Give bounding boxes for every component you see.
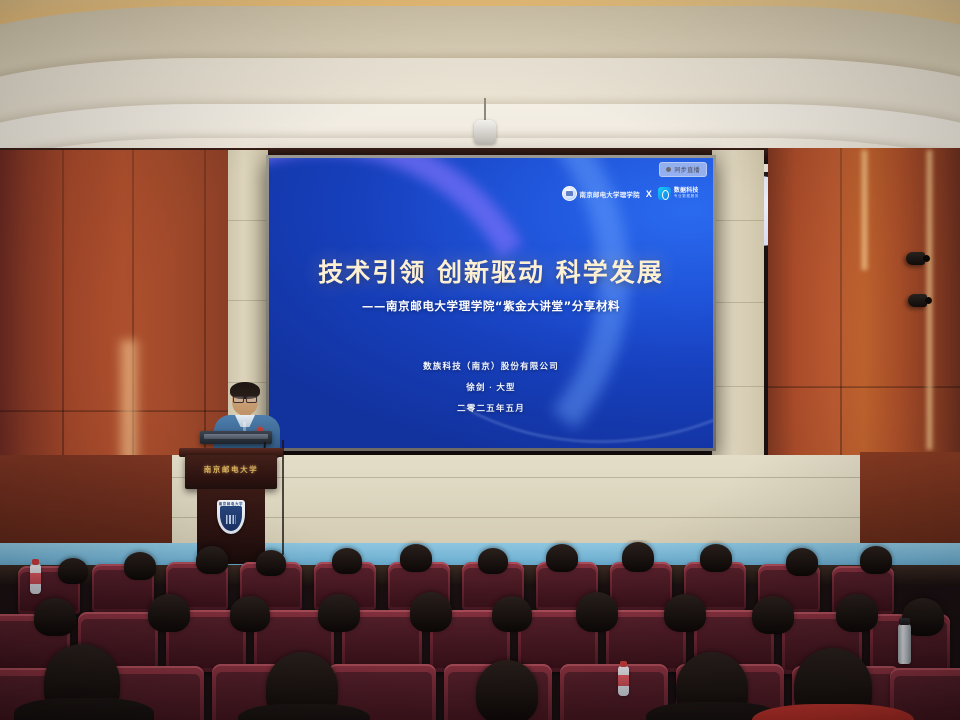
crest-shield: [220, 506, 242, 531]
audience-head: [476, 660, 538, 720]
audience-head: [478, 548, 508, 574]
watermark-dot-icon: [666, 167, 671, 172]
university-logo-label: 南京邮电大学理学院: [580, 189, 640, 199]
projection-screen: 同步直播 南京邮电大学理学院 X 数据科技 专业数据服务: [266, 155, 716, 451]
slide-subtitle: ——南京邮电大学理学院“紫金大讲堂”分享材料: [269, 298, 713, 314]
audience-head: [196, 546, 228, 574]
bottle-label: [30, 573, 41, 584]
presenter: [212, 384, 282, 458]
ceiling-speaker-icon: [474, 120, 496, 144]
slide-logo-row: 南京邮电大学理学院 X 数据科技 专业数据服务: [562, 186, 700, 201]
audience-head: [664, 594, 706, 632]
watermark-label: 同步直播: [674, 165, 700, 174]
crest-emblem-icon: [226, 515, 236, 524]
slide-title: 技术引领 创新驱动 科学发展: [269, 253, 713, 289]
audience-head: [492, 596, 532, 632]
live-stream-watermark: 同步直播: [659, 162, 707, 177]
audience-head: [124, 552, 156, 580]
bottle-cap-icon: [620, 661, 627, 667]
wall-spotlight-icon: [908, 294, 927, 307]
thermos-cap-icon: [899, 618, 910, 625]
audience-head: [786, 548, 818, 576]
audience-head: [752, 596, 794, 634]
podium-face: 南京邮电大学: [185, 455, 277, 489]
company-logo: 数据科技 专业数据服务: [658, 187, 699, 200]
slide-meta-date: 二零二五年五月: [269, 402, 713, 414]
audience-head: [576, 592, 618, 632]
audience-head: [860, 546, 892, 574]
audience-head: [622, 542, 654, 572]
university-logo: 南京邮电大学理学院: [562, 186, 640, 201]
bottle-cap-icon: [32, 559, 39, 565]
water-bottle: [618, 666, 629, 696]
audience-head: [256, 550, 286, 576]
company-mark-icon: [658, 187, 671, 200]
audience-head: [230, 596, 270, 632]
audience-head: [700, 544, 732, 572]
audience-head: [318, 594, 360, 632]
floor-cable: [282, 440, 287, 555]
audience-head: [836, 594, 878, 632]
company-logo-text: 数据科技 专业数据服务: [674, 188, 699, 199]
laptop: [200, 431, 272, 444]
right-wall-light-strip-inner: [860, 150, 869, 270]
logo-separator: X: [646, 189, 652, 199]
audience-shoulders: [238, 704, 370, 720]
slide-meta-presenter: 徐剑 · 大型: [269, 381, 713, 393]
company-logo-tagline: 专业数据服务: [674, 195, 699, 199]
slide-meta-company: 数族科技（南京）股份有限公司: [269, 360, 713, 372]
university-seal-icon: [562, 186, 577, 201]
audience-head: [410, 592, 452, 632]
left-stage-cabinet: [0, 455, 172, 550]
podium-nameplate: 南京邮电大学: [185, 464, 277, 475]
bottle-label: [618, 675, 629, 686]
audience-head: [58, 558, 88, 584]
slide-meta-block: 数族科技（南京）股份有限公司 徐剑 · 大型 二零二五年五月: [269, 360, 713, 423]
audience-head: [34, 598, 76, 636]
ceiling: [0, 0, 960, 172]
glasses-icon: [233, 396, 257, 401]
thermos-flask: [898, 624, 911, 664]
audience-head: [332, 548, 362, 574]
audience-area: [0, 540, 960, 720]
slide-content: 同步直播 南京邮电大学理学院 X 数据科技 专业数据服务: [269, 158, 713, 448]
speaker-mount-rod: [484, 98, 486, 122]
audience-head: [148, 594, 190, 632]
auditorium-photo: 同步直播 南京邮电大学理学院 X 数据科技 专业数据服务: [0, 0, 960, 720]
slide-surface: 同步直播 南京邮电大学理学院 X 数据科技 专业数据服务: [269, 158, 713, 448]
audience-shoulders: [14, 698, 154, 720]
wall-spotlight-icon: [906, 252, 925, 265]
audience-head: [546, 544, 578, 572]
water-bottle: [30, 564, 41, 594]
audience-head: [400, 544, 432, 572]
